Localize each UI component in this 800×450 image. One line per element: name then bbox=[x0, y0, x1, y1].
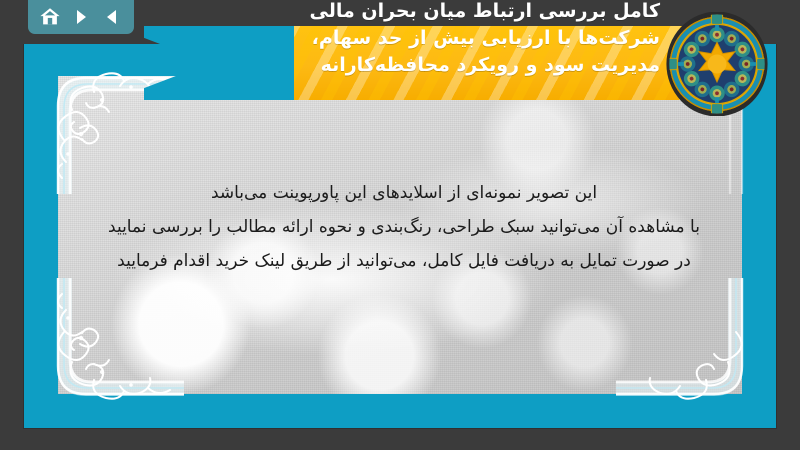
body-line-1: این تصویر نمونه‌ای از اسلایدهای این پاور… bbox=[84, 176, 724, 210]
slide-title: کامل بررسی ارتباط میان بحران مالی شرکت‌ه… bbox=[150, 0, 670, 102]
navigation-controls[interactable] bbox=[28, 0, 134, 34]
body-line-2: با مشاهده آن می‌توانید سبک طراحی، رنگ‌بن… bbox=[84, 210, 724, 244]
slide-canvas: این تصویر نمونه‌ای از اسلایدهای این پاور… bbox=[0, 0, 800, 450]
body-line-3: در صورت تمایل به دریافت فایل کامل، می‌تو… bbox=[84, 244, 724, 278]
title-line-1: کامل بررسی ارتباط میان بحران مالی bbox=[150, 0, 660, 25]
title-line-2: شرکت‌ها با ارزیابی بیش از حد سهام، bbox=[150, 25, 660, 52]
home-icon bbox=[39, 6, 61, 28]
slide-body: این تصویر نمونه‌ای از اسلایدهای این پاور… bbox=[84, 176, 724, 278]
title-line-3: مدیریت سود و رویکرد محافظه‌کارانه bbox=[150, 52, 660, 79]
triangle-left-icon bbox=[102, 7, 122, 27]
prev-slide-button[interactable] bbox=[101, 6, 123, 28]
persian-medallion-icon bbox=[664, 12, 770, 116]
next-slide-button[interactable] bbox=[70, 6, 92, 28]
triangle-right-icon bbox=[71, 7, 91, 27]
home-button[interactable] bbox=[39, 6, 61, 28]
